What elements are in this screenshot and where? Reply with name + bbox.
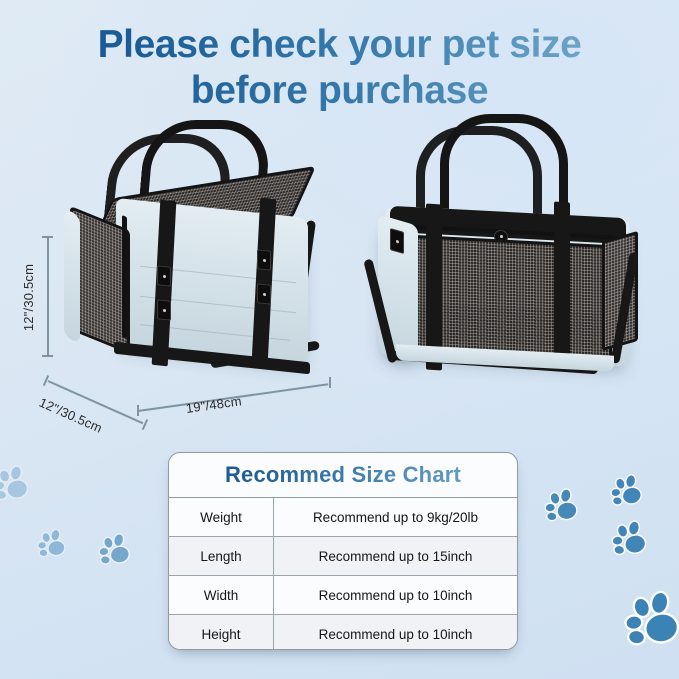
dimension-cap-depth-end	[142, 419, 148, 430]
infographic-poster: Please check your pet size before purcha…	[0, 0, 679, 679]
size-chart-key-length: Length	[169, 537, 274, 576]
right-bag-front-strap-right	[554, 202, 570, 367]
size-chart-key-width: Width	[169, 576, 274, 615]
right-pet-carrier-image	[368, 112, 668, 412]
dimension-cap-height-top	[42, 236, 53, 238]
size-chart-value-length: Recommend up to 15inch	[274, 537, 518, 576]
product-image-stage: 12"/30.5cm 12"/30.5cm 19"/48cm	[0, 112, 679, 442]
table-row: Length Recommend up to 15inch	[169, 537, 517, 576]
paw-print-icon	[610, 518, 652, 560]
dimension-cap-height-bottom	[42, 355, 53, 357]
paw-print-icon	[622, 587, 679, 653]
table-row: Height Recommend up to 10inch	[169, 615, 517, 651]
size-chart-title: Recommed Size Chart	[169, 453, 517, 498]
size-chart-key-weight: Weight	[169, 498, 274, 537]
headline-line-1: Please check your pet size	[98, 23, 582, 66]
left-bag-buckle-right-lower	[257, 283, 271, 304]
paw-print-icon	[543, 486, 583, 526]
right-bag-end-clip	[390, 228, 404, 254]
left-pet-carrier-image	[60, 112, 360, 412]
size-chart-value-width: Recommend up to 10inch	[274, 576, 518, 615]
size-chart-table: Weight Recommend up to 9kg/20lb Length R…	[169, 498, 517, 650]
left-bag-buckle-left-lower	[157, 299, 171, 320]
table-row: Width Recommend up to 10inch	[169, 576, 517, 615]
recommended-size-chart: Recommed Size Chart Weight Recommend up …	[168, 452, 518, 650]
left-bag-side-shell	[64, 209, 80, 343]
dimension-label-height: 12"/30.5cm	[21, 264, 36, 331]
size-chart-value-height: Recommend up to 10inch	[274, 615, 518, 651]
left-bag-side-zipper	[122, 215, 127, 339]
dimension-line-height	[47, 236, 49, 356]
size-chart-value-weight: Recommend up to 9kg/20lb	[274, 498, 518, 537]
dimension-cap-length-right	[329, 377, 331, 388]
dimension-cap-length-left	[137, 405, 139, 416]
paw-print-icon	[36, 527, 70, 561]
right-bag-handle-back	[416, 126, 542, 215]
paw-print-icon	[97, 531, 135, 569]
paw-print-icon	[609, 472, 647, 510]
table-row: Weight Recommend up to 9kg/20lb	[169, 498, 517, 537]
paw-print-icon	[0, 463, 34, 505]
headline-line-2: before purchase	[0, 68, 679, 114]
left-bag-buckle-right-upper	[257, 249, 271, 270]
size-chart-key-height: Height	[169, 615, 274, 651]
left-bag-buckle-left-upper	[157, 265, 171, 286]
page-title: Please check your pet size before purcha…	[0, 22, 679, 114]
